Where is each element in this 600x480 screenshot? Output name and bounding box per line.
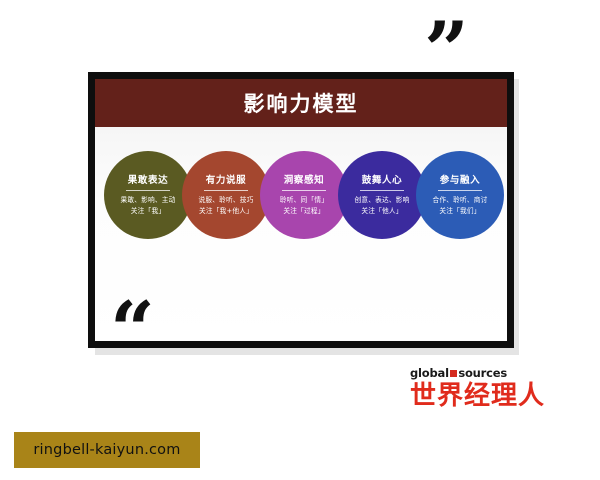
watermark-box: ringbell-kaiyun.com (14, 432, 200, 468)
model-circle-1-line2: 关注「我」 (131, 206, 165, 216)
model-circle-2[interactable]: 有力说服 说服、聆听、技巧 关注「我+他人」 (182, 151, 270, 239)
model-circle-2-heading: 有力说服 (206, 176, 246, 189)
model-circle-3-line2: 关注「过程」 (283, 206, 324, 216)
model-circle-2-line1: 说服、聆听、技巧 (198, 195, 253, 205)
model-circle-4[interactable]: 鼓舞人心 创意、表达、影响 关注「他人」 (338, 151, 426, 239)
model-circle-1[interactable]: 果敢表达 果敢、影响、主动 关注「我」 (104, 151, 192, 239)
model-circle-4-line2: 关注「他人」 (361, 206, 402, 216)
model-circle-4-heading: 鼓舞人心 (362, 176, 402, 189)
logo-brand-cn: 世界经理人 (410, 382, 545, 412)
model-circle-4-divider (360, 190, 404, 191)
influence-model-circle-row: 果敢表达 果敢、影响、主动 关注「我」 有力说服 说服、聆听、技巧 关注「我+他… (104, 151, 504, 251)
logo-word-sources: sources (458, 368, 507, 380)
model-circle-3-heading: 洞察感知 (284, 176, 324, 189)
slide-stage: 影响力模型 果敢表达 果敢、影响、主动 关注「我」 有力说服 说服、聆听、技巧 … (0, 0, 600, 480)
model-circle-3[interactable]: 洞察感知 聆听、同「情」 关注「过程」 (260, 151, 348, 239)
model-circle-5[interactable]: 参与融入 合作、聆听、商讨 关注「我们」 (416, 151, 504, 239)
model-circle-1-divider (126, 190, 170, 191)
slide-body: 果敢表达 果敢、影响、主动 关注「我」 有力说服 说服、聆听、技巧 关注「我+他… (95, 127, 507, 341)
model-circle-2-line2: 关注「我+他人」 (199, 206, 253, 216)
model-circle-5-line1: 合作、聆听、商讨 (432, 195, 487, 205)
model-circle-2-divider (204, 190, 248, 191)
model-circle-5-divider (438, 190, 482, 191)
model-circle-1-heading: 果敢表达 (128, 176, 168, 189)
model-circle-5-line2: 关注「我们」 (439, 206, 480, 216)
global-sources-logo: global sources 世界经理人 (410, 368, 545, 411)
model-circle-4-line1: 创意、表达、影响 (354, 195, 409, 205)
watermark-text: ringbell-kaiyun.com (33, 442, 180, 458)
logo-wordmark: global sources (410, 368, 545, 380)
logo-square-icon (450, 370, 457, 377)
quote-open-icon: “ (110, 300, 155, 362)
quote-close-icon: ” (424, 20, 469, 82)
logo-word-global: global (410, 368, 449, 380)
slide-frame-inner: 影响力模型 果敢表达 果敢、影响、主动 关注「我」 有力说服 说服、聆听、技巧 … (95, 79, 507, 341)
model-circle-3-divider (282, 190, 326, 191)
model-circle-5-heading: 参与融入 (440, 176, 480, 189)
model-circle-1-line1: 果敢、影响、主动 (120, 195, 175, 205)
page-title: 影响力模型 (244, 88, 359, 118)
model-circle-3-line1: 聆听、同「情」 (280, 195, 328, 205)
